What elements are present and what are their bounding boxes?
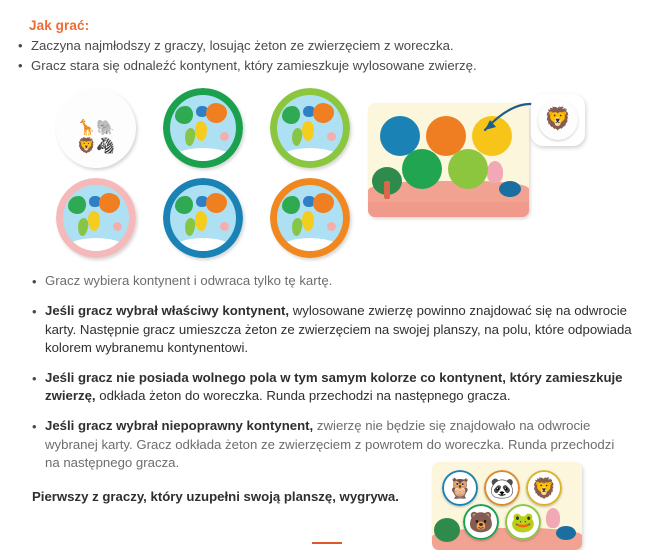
rule-item-text: Jeśli gracz nie posiada wolnego pola w t… xyxy=(45,369,632,406)
bullet-glyph: • xyxy=(32,417,45,436)
spot-yellow xyxy=(472,116,512,156)
intro-list-item-text: Gracz stara się odnaleźć kontynent, któr… xyxy=(31,56,638,75)
tokens-board-illustration: 🦉 🐼 🦁 🐻 🐸 xyxy=(432,462,582,550)
bullet-glyph: • xyxy=(32,369,45,388)
footer-divider xyxy=(312,542,342,544)
tree-decoration xyxy=(434,518,460,542)
owl-token: 🦉 xyxy=(442,470,478,506)
tree-trunk-decoration xyxy=(384,181,390,199)
rule-item: • Jeśli gracz wybrał właściwy kontynent,… xyxy=(32,302,632,358)
rule-item: • Gracz wybiera kontynent i odwraca tylk… xyxy=(32,272,632,291)
rule-item: • Jeśli gracz nie posiada wolnego pola w… xyxy=(32,369,632,406)
frog-token: 🐸 xyxy=(505,504,541,540)
intro-list-item: • Gracz stara się odnaleźć kontynent, kt… xyxy=(18,56,638,75)
frog-icon: 🐸 xyxy=(505,512,541,532)
panda-icon: 🐼 xyxy=(484,478,520,498)
lion-chip: 🦁 xyxy=(538,100,578,140)
globe-face xyxy=(170,95,236,161)
globe-green xyxy=(163,88,243,168)
lion-icon: 🦁 xyxy=(538,109,578,131)
lion-icon: 🦁 xyxy=(526,478,562,498)
bullet-glyph: • xyxy=(18,56,31,75)
globe-face xyxy=(277,185,343,251)
bear-icon: 🐻 xyxy=(463,512,499,532)
globe-pink xyxy=(56,178,136,258)
spot-green xyxy=(402,149,442,189)
rule-item-text: Gracz wybiera kontynent i odwraca tylko … xyxy=(45,272,632,291)
lion-token-callout: 🦁 xyxy=(531,94,585,146)
closing-statement: Pierwszy z graczy, który uzupełni swoją … xyxy=(32,489,399,504)
rock-decoration xyxy=(499,181,521,197)
rules-list: • Gracz wybiera kontynent i odwraca tylk… xyxy=(32,272,632,484)
bullet-glyph: • xyxy=(32,302,45,321)
globes-illustration: 🦒🐘 🦁🦓 xyxy=(56,88,351,258)
globe-orange xyxy=(270,178,350,258)
page-root: Jak grać: • Zaczyna najmłodszy z graczy,… xyxy=(0,0,654,550)
giraffe-icon: 🦒🐘 xyxy=(56,121,136,136)
intro-list-item: • Zaczyna najmłodszy z graczy, losując ż… xyxy=(18,36,638,55)
globe-light-green xyxy=(270,88,350,168)
rule-item-plain: odkłada żeton do woreczka. Runda przecho… xyxy=(96,388,511,403)
lion-token: 🦁 xyxy=(526,470,562,506)
intro-list: • Zaczyna najmłodszy z graczy, losując ż… xyxy=(18,36,638,76)
page-heading: Jak grać: xyxy=(29,18,89,33)
rule-item-plain: Gracz wybiera kontynent i odwraca tylko … xyxy=(45,273,332,288)
owl-icon: 🦉 xyxy=(442,478,478,498)
bullet-glyph: • xyxy=(18,36,31,55)
rule-item-text: Jeśli gracz wybrał właściwy kontynent, w… xyxy=(45,302,632,358)
african-animals-token: 🦒🐘 🦁🦓 xyxy=(56,88,136,168)
rock-decoration xyxy=(556,526,576,540)
globe-face xyxy=(277,95,343,161)
globe-blue xyxy=(163,178,243,258)
intro-list-item-text: Zaczyna najmłodszy z graczy, losując żet… xyxy=(31,36,638,55)
flower-decoration xyxy=(487,161,503,183)
player-board-illustration xyxy=(368,103,529,217)
globe-face xyxy=(170,185,236,251)
spot-light-green xyxy=(448,149,488,189)
globe-face xyxy=(63,185,129,251)
panda-token: 🐼 xyxy=(484,470,520,506)
rule-item-emphasis: Jeśli gracz wybrał niepoprawny kontynent… xyxy=(45,418,313,433)
flower-decoration xyxy=(546,508,560,528)
lion-zebra-icon: 🦁🦓 xyxy=(56,138,136,153)
bullet-glyph: • xyxy=(32,272,45,291)
rule-item-emphasis: Jeśli gracz wybrał właściwy kontynent, xyxy=(45,303,289,318)
bear-token: 🐻 xyxy=(463,504,499,540)
